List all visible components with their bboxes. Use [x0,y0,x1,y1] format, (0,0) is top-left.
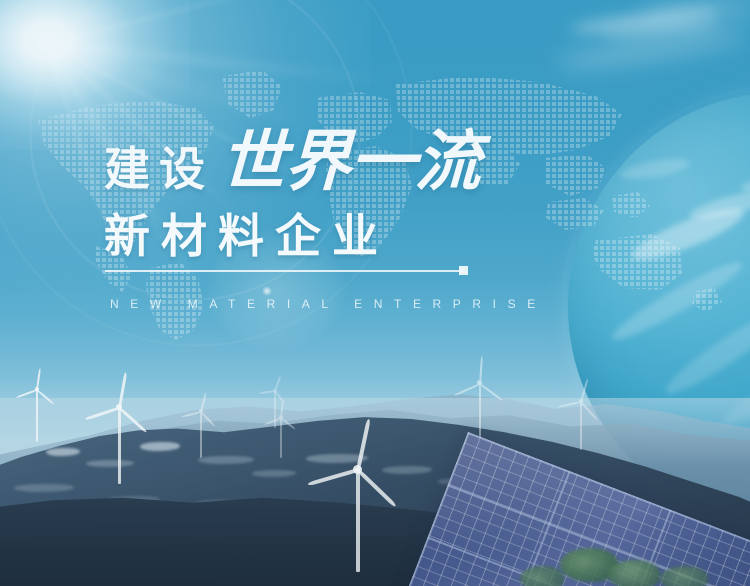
sun-icon [0,0,190,150]
foliage [608,560,660,586]
headline-line-2: 新材料企业 [104,213,389,259]
wind-turbine-icon [96,390,144,482]
subtitle-text: NEW MATERIAL ENTERPRISE [110,297,547,311]
wind-turbine-icon [22,378,52,442]
wind-turbine-icon [326,444,390,572]
headline-emphasis: 世界一流 [219,131,481,192]
wind-turbine-icon [262,382,288,428]
headline-prefix: 建设 [104,146,214,192]
lens-flare-dot-icon [262,286,272,296]
headline-line-1: 建设 世界一流 [104,131,480,192]
wind-turbine-icon [186,400,216,458]
wind-turbine-icon [566,388,596,450]
foliage [520,566,564,586]
hero-banner: 建设 世界一流 新材料企业 NEW MATERIAL ENTERPRISE [0,0,750,586]
title-divider-cap [459,266,468,275]
title-divider [105,270,463,272]
foliage [660,566,708,586]
